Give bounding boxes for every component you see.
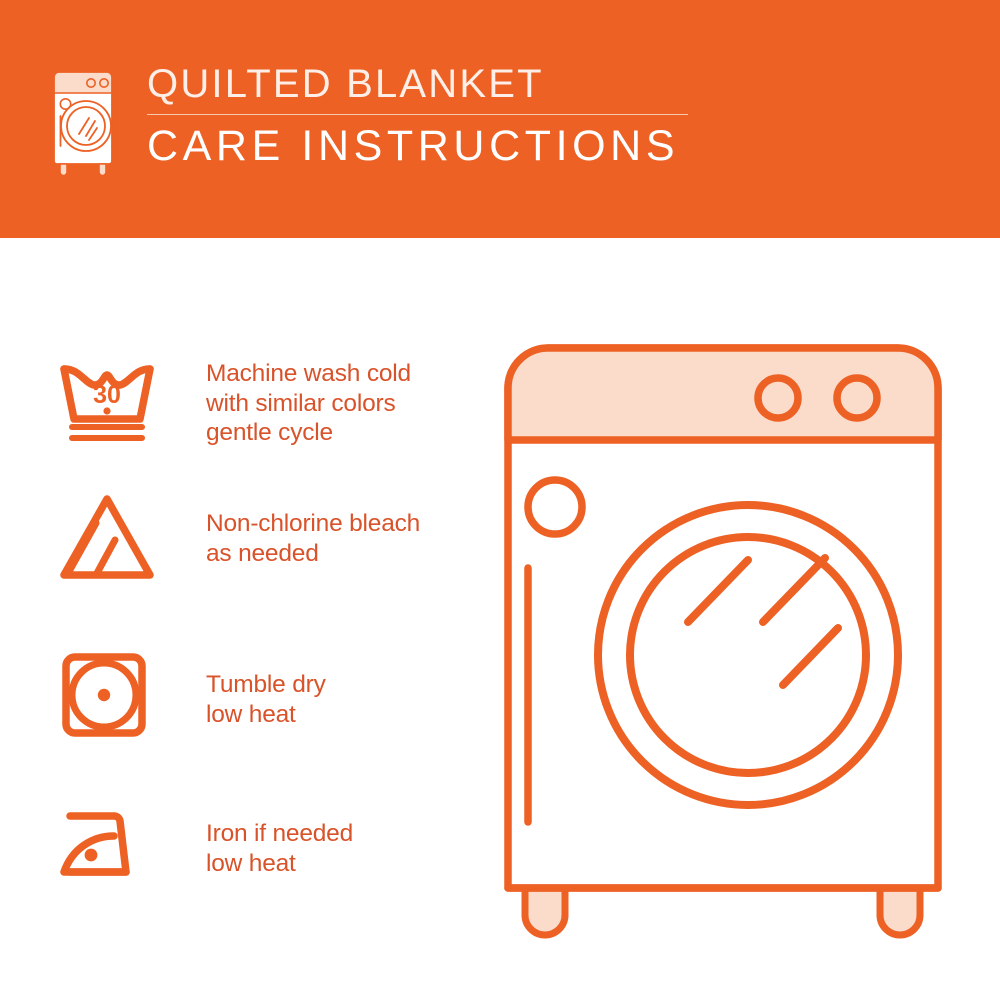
care-item-tumble-dry: Tumble dry low heat — [52, 645, 326, 745]
tumble-dry-low-heat-icon — [52, 645, 162, 745]
care-instructions-list: 30 Machine wash cold with similar colors… — [0, 238, 470, 1000]
care-item-label-iron: Iron if needed low heat — [206, 819, 353, 878]
washing-machine-icon — [45, 66, 121, 176]
care-item-label-machine-wash: Machine wash cold with similar colors ge… — [206, 359, 411, 448]
care-item-machine-wash: 30 Machine wash cold with similar colors… — [52, 347, 411, 448]
page-title-primary: QUILTED BLANKET — [147, 62, 688, 106]
header-banner: QUILTED BLANKET CARE INSTRUCTIONS — [0, 0, 1000, 238]
non-chlorine-bleach-triangle-icon — [52, 487, 162, 587]
page-title-secondary: CARE INSTRUCTIONS — [147, 122, 688, 170]
care-item-label-tumble-dry: Tumble dry low heat — [206, 670, 326, 729]
care-item-iron: Iron if needed low heat — [52, 794, 353, 894]
iron-low-heat-icon — [52, 794, 162, 894]
header-title-block: QUILTED BLANKET CARE INSTRUCTIONS — [147, 62, 688, 170]
care-item-label-bleach: Non-chlorine bleach as needed — [206, 509, 420, 568]
wash-temperature-label: 30 — [93, 381, 121, 409]
care-item-bleach: Non-chlorine bleach as needed — [52, 487, 420, 587]
front-load-washing-machine-illustration — [470, 310, 1000, 960]
title-divider — [147, 114, 688, 115]
header-content: QUILTED BLANKET CARE INSTRUCTIONS — [45, 62, 688, 176]
wash-basin-30-gentle-icon: 30 — [52, 347, 162, 447]
